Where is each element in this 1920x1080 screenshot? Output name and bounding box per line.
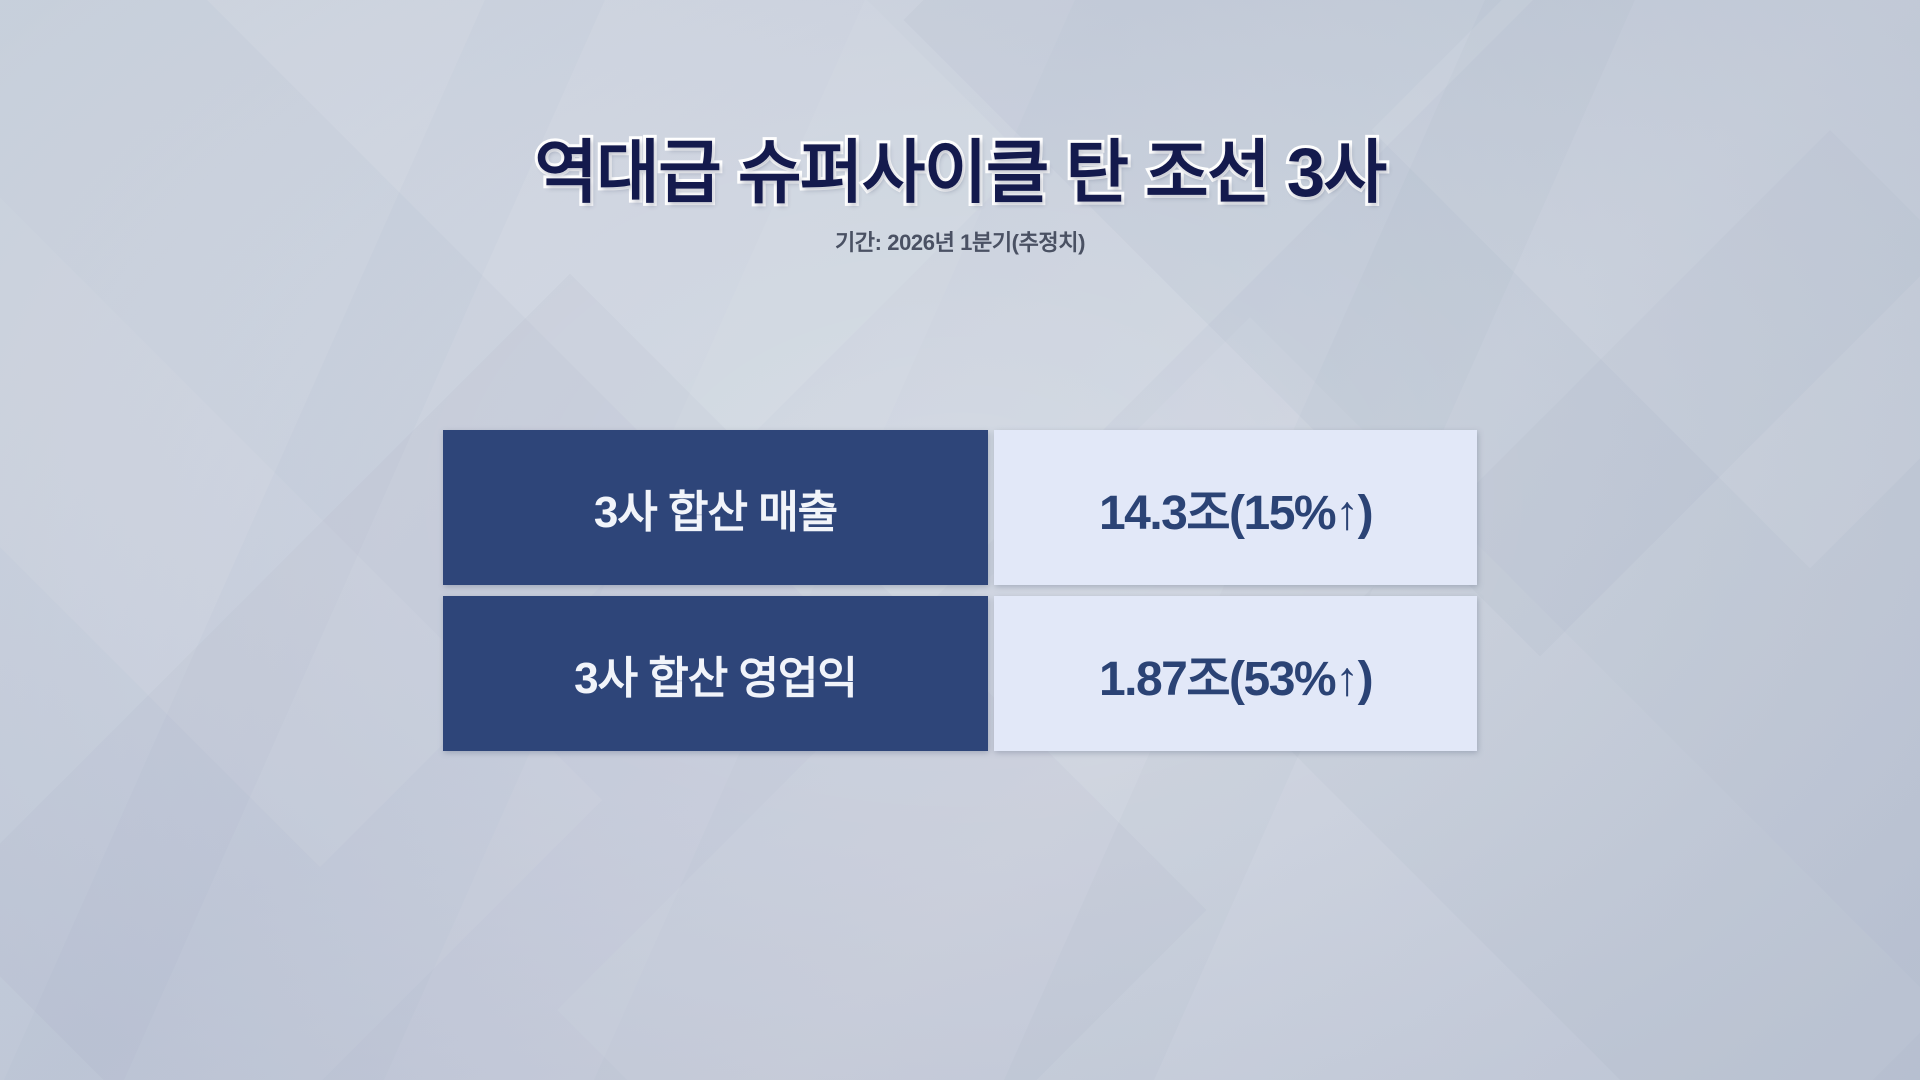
page-title: 역대급 슈퍼사이클 탄 조선 3사	[0, 136, 1920, 211]
news-graphic-stage: 역대급 슈퍼사이클 탄 조선 3사 기간: 2026년 1분기(추정치) 3사 …	[0, 0, 1920, 1080]
headline-block: 역대급 슈퍼사이클 탄 조선 3사 기간: 2026년 1분기(추정치)	[0, 136, 1920, 257]
row-label-cell: 3사 합산 영업익	[443, 596, 988, 751]
table-row: 3사 합산 영업익 1.87조(53%↑)	[443, 596, 1477, 751]
page-subtitle: 기간: 2026년 1분기(추정치)	[0, 225, 1920, 257]
row-value-cell: 14.3조(15%↑)	[994, 430, 1477, 585]
table-row: 3사 합산 매출 14.3조(15%↑)	[443, 430, 1477, 585]
statistics-table: 3사 합산 매출 14.3조(15%↑) 3사 합산 영업익 1.87조(53%…	[443, 430, 1477, 751]
row-label-cell: 3사 합산 매출	[443, 430, 988, 585]
row-value-cell: 1.87조(53%↑)	[994, 596, 1477, 751]
